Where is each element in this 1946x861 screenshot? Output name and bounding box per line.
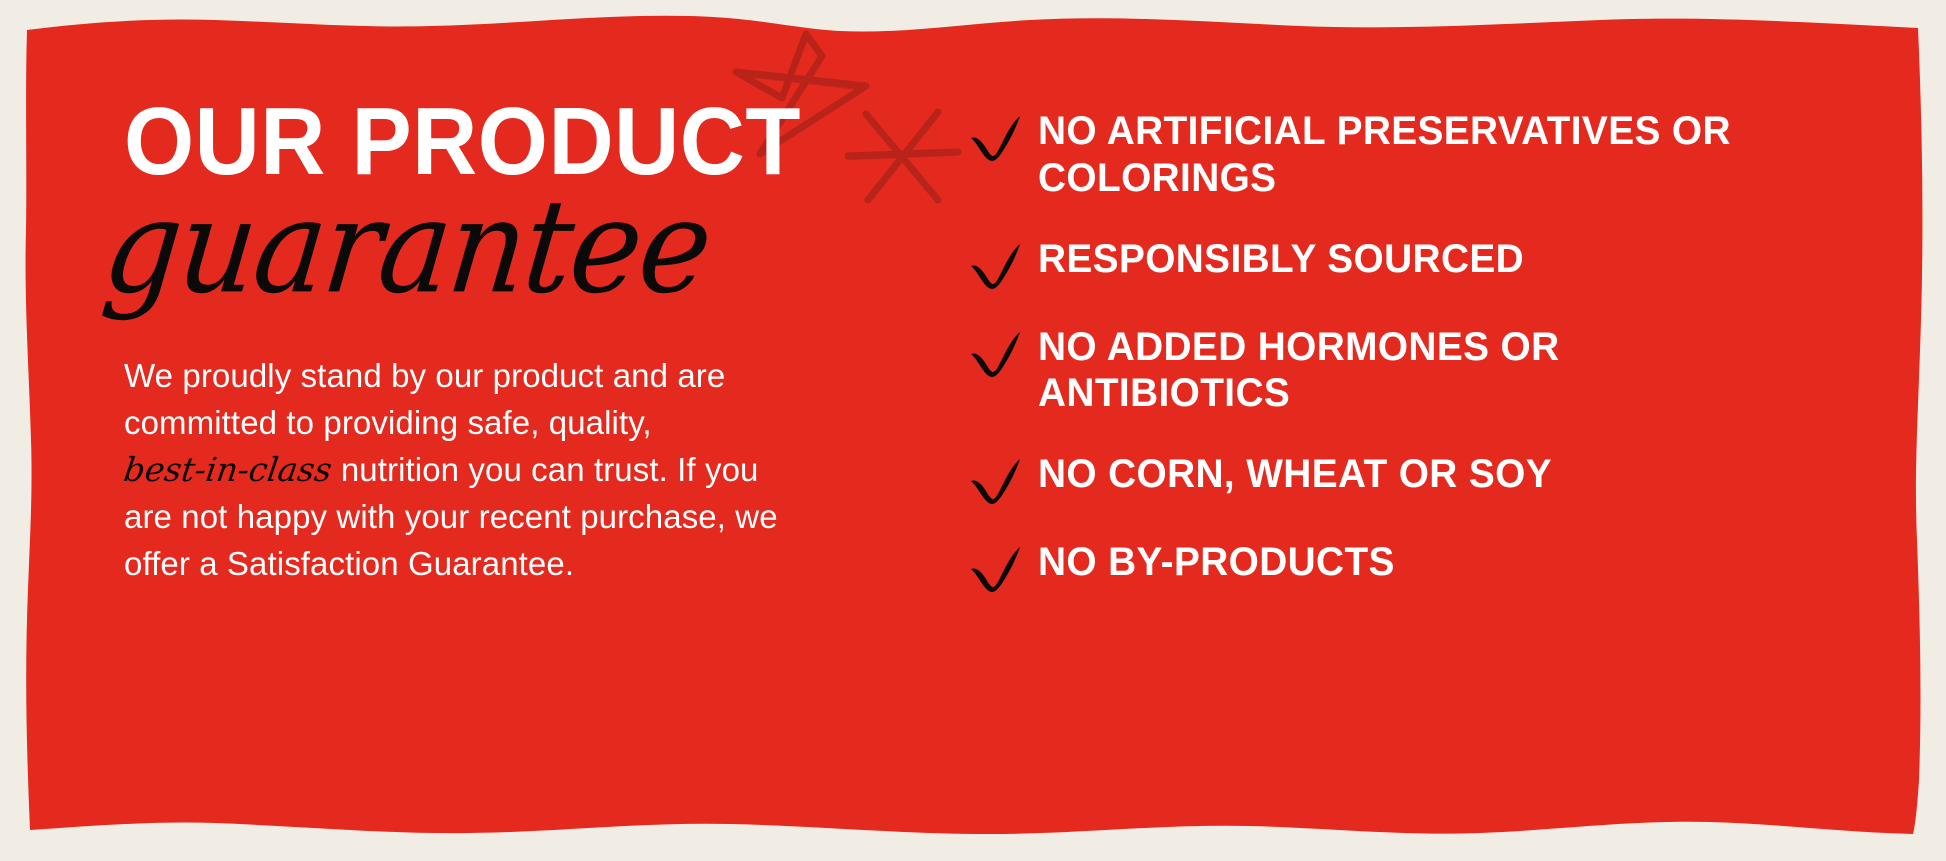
list-item: NO ARTIFICIAL PRESERVATIVES OR COLORINGS	[968, 108, 1888, 202]
list-item: NO CORN, WHEAT OR SOY	[968, 451, 1888, 505]
guarantee-copy-block: OUR PRODUCT guarantee We proudly stand b…	[124, 96, 864, 587]
list-item: NO ADDED HORMONES OR ANTIBIOTICS	[968, 324, 1888, 418]
list-item-label: NO ADDED HORMONES OR ANTIBIOTICS	[1038, 324, 1756, 418]
check-icon	[968, 112, 1024, 162]
guarantee-banner: OUR PRODUCT guarantee We proudly stand b…	[0, 0, 1946, 861]
list-item-label: NO CORN, WHEAT OR SOY	[1038, 451, 1552, 498]
check-icon	[968, 455, 1024, 505]
check-icon	[968, 240, 1024, 290]
list-item-label: RESPONSIBLY SOURCED	[1038, 236, 1524, 283]
list-item: RESPONSIBLY SOURCED	[968, 236, 1888, 290]
page-title-script: guarantee	[98, 184, 878, 314]
description-hand-emphasis: best-in-class	[121, 447, 335, 494]
list-item: NO BY-PRODUCTS	[968, 539, 1888, 593]
description-part-one: We proudly stand by our product and are …	[124, 357, 725, 441]
check-icon	[968, 328, 1024, 378]
claims-list: NO ARTIFICIAL PRESERVATIVES OR COLORINGS…	[968, 108, 1888, 593]
list-item-label: NO BY-PRODUCTS	[1038, 539, 1395, 586]
check-icon	[968, 543, 1024, 593]
list-item-label: NO ARTIFICIAL PRESERVATIVES OR COLORINGS	[1038, 108, 1756, 202]
guarantee-description: We proudly stand by our product and are …	[124, 353, 784, 587]
